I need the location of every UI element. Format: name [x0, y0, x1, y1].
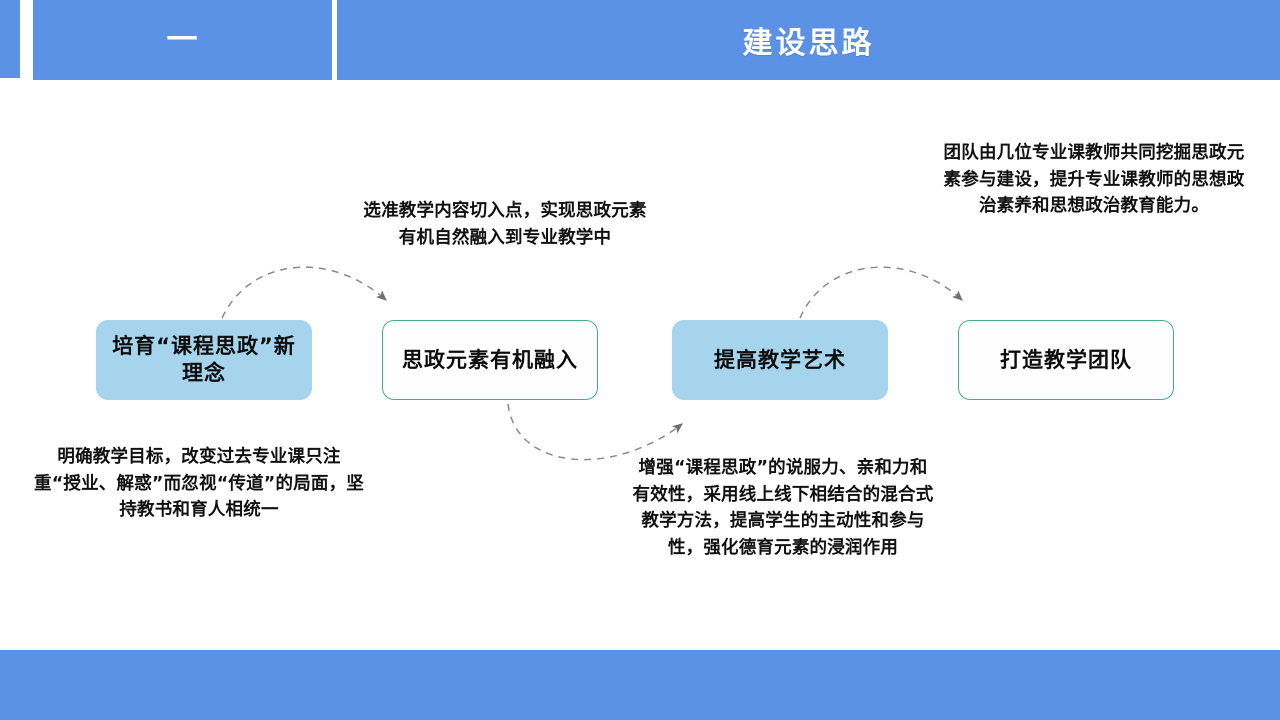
arc-box2-to-box3 — [508, 404, 682, 460]
process-box-2-label: 思政元素有机融入 — [402, 347, 578, 374]
process-box-1-label: 培育“课程思政”新理念 — [106, 333, 302, 387]
annotation-top-left: 选准教学内容切入点，实现思政元素有机自然融入到专业教学中 — [355, 198, 655, 251]
page-title: 建设思路 — [743, 18, 875, 62]
annotation-bottom-center: 增强“课程思政”的说服力、亲和力和有效性，采用线上线下相结合的混合式教学方法，提… — [630, 455, 936, 561]
process-box-4[interactable]: 打造教学团队 — [958, 320, 1174, 400]
arc-box3-to-box4 — [800, 267, 962, 318]
header-section-number-box: 一 — [33, 0, 332, 80]
arc-box1-to-box2 — [222, 267, 386, 318]
footer-bar — [0, 650, 1280, 720]
header-section-number: 一 — [167, 25, 199, 56]
header-left-edge-accent — [0, 0, 20, 78]
annotation-bottom-left: 明确教学目标，改变过去专业课只注重“授业、解惑”而忽视“传道”的局面，坚持教书和… — [34, 444, 364, 524]
process-box-1[interactable]: 培育“课程思政”新理念 — [96, 320, 312, 400]
process-box-3-label: 提高教学艺术 — [714, 347, 846, 374]
slide-canvas: 一 建设思路 选准教学内容切入点，实现思政元素有机自然融入到专业教学中 团队由几… — [0, 0, 1280, 720]
process-box-3[interactable]: 提高教学艺术 — [672, 320, 888, 400]
process-box-2[interactable]: 思政元素有机融入 — [382, 320, 598, 400]
process-box-4-label: 打造教学团队 — [1000, 347, 1132, 374]
annotation-top-right: 团队由几位专业课教师共同挖掘思政元素参与建设，提升专业课教师的思想政治素养和思想… — [938, 140, 1250, 220]
header-title-box: 建设思路 — [337, 0, 1280, 80]
